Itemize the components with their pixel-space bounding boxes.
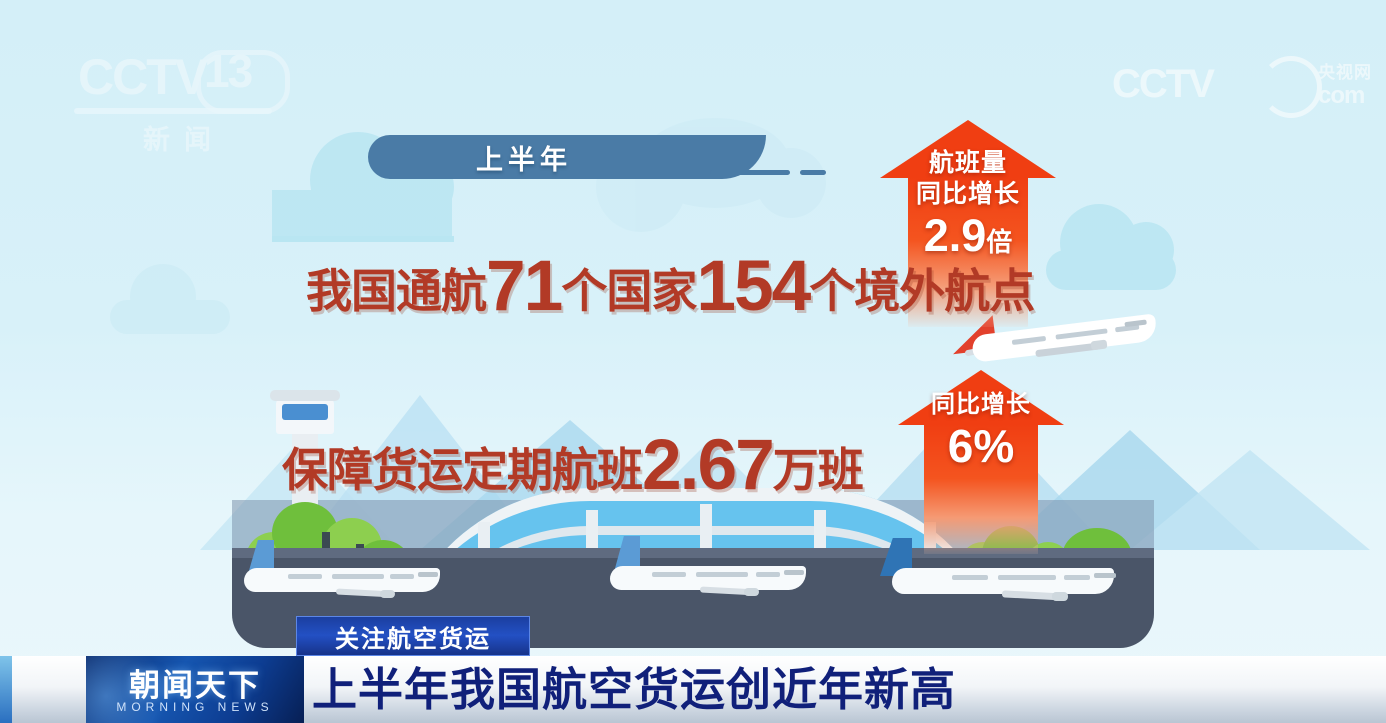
cloud-icon (110, 300, 230, 334)
stat-label-line2: 同比增长 (880, 181, 1056, 208)
stat-label-line1: 同比增长 (898, 392, 1064, 417)
program-logo: 朝闻天下 MORNING NEWS (86, 656, 304, 723)
parked-airplane (898, 552, 1128, 602)
period-banner-label: 上半年 (368, 135, 680, 179)
channel-logo-row: CCTV 13 (72, 46, 282, 106)
stat-value: 6% (898, 422, 1064, 471)
headline-cargo-flights: 保障货运定期航班2.67万班 (282, 424, 863, 506)
watermark-cn: 央视网 (1318, 58, 1372, 83)
broadcast-screen: 航班量 同比增长 2.9倍 同比增长 6% 上半年 我国通航71个国家154个境… (0, 0, 1386, 723)
headline-prefix: 保障货运定期航班 (282, 444, 642, 496)
mountain-shape (1130, 450, 1370, 550)
topic-label: 关注航空货运 (297, 617, 529, 655)
cloud-icon (1046, 250, 1176, 290)
headline-flights-countries: 我国通航71个国家154个境外航点 (306, 245, 1034, 327)
channel-logo: CCTV 13 新闻 (72, 46, 282, 156)
headline-number-cargo: 2.67 (642, 425, 773, 505)
watermark-ring-icon (1260, 56, 1322, 118)
program-name-en: MORNING NEWS (86, 700, 304, 714)
cloud-icon (272, 190, 452, 236)
stat-arrow-cargo-growth: 同比增长 6% (898, 370, 1064, 545)
headline-prefix: 我国通航 (306, 265, 486, 317)
parked-airplane (608, 550, 818, 598)
banner-dash (800, 170, 826, 175)
cloud-base (272, 236, 454, 242)
topic-banner: 关注航空货运 (296, 616, 530, 656)
news-headline: 上半年我国航空货运创近年新高 (312, 658, 956, 722)
channel-name: 新闻 (72, 118, 282, 157)
headline-number-destinations: 154 (696, 246, 809, 326)
channel-logo-underbar (74, 108, 272, 114)
stat-label-line1: 航班量 (880, 150, 1056, 177)
watermark-wordmark: CCTV (1112, 62, 1213, 107)
headline-number-countries: 71 (486, 246, 561, 326)
parked-airplane (240, 552, 450, 600)
headline-middle: 个国家 (561, 265, 696, 317)
headline-suffix: 个境外航点 (809, 265, 1034, 317)
watermark: CCTV 央视网 com (1112, 56, 1350, 110)
headline-suffix: 万班 (773, 444, 863, 496)
channel-number: 13 (204, 44, 251, 98)
program-name-cn: 朝闻天下 (86, 660, 304, 705)
banner-rule (710, 170, 790, 175)
period-banner: 上半年 (368, 135, 680, 179)
strap-edge-accent (0, 656, 12, 723)
watermark-com: com (1318, 82, 1364, 110)
cctv-wordmark: CCTV (78, 48, 206, 106)
